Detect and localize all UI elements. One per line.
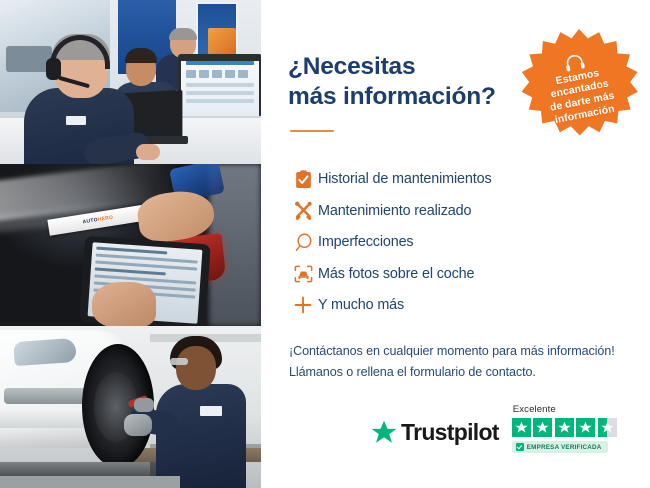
feature-label: Mantenimiento realizado: [318, 203, 471, 219]
trustpilot-rating: Excelente: [512, 404, 617, 453]
trustpilot-logo-text: Trustpilot: [401, 419, 499, 446]
trustpilot-star-icon: [371, 420, 397, 445]
promo-badge-content: Estamos encantados de darte más informac…: [510, 16, 648, 154]
clipboard-check-icon: [288, 170, 318, 189]
feature-label: Historial de mantenimientos: [318, 171, 492, 187]
trustpilot-widget[interactable]: Trustpilot Excelente: [371, 404, 617, 453]
feature-label: Imperfecciones: [318, 234, 413, 250]
verified-company-label: EMPRESA VERIFICADA: [527, 444, 602, 451]
trustpilot-star-half: [598, 418, 617, 437]
feature-item-more-photos: Más fotos sobre el coche: [288, 258, 624, 290]
photo-mechanic-wheel: [0, 326, 261, 488]
photo-column: AUTOHERO: [0, 0, 261, 488]
plus-icon: [288, 296, 318, 314]
photo-mechanic-badge: [200, 406, 222, 416]
trustpilot-star-filled: [576, 418, 595, 437]
photo-monitor: [178, 54, 261, 116]
contact-copy: ¡Contáctanos en cualquier momento para m…: [289, 341, 624, 383]
photo-mechanic-body: [156, 384, 246, 488]
feature-label: Más fotos sobre el coche: [318, 266, 474, 282]
feature-label: Y mucho más: [318, 297, 404, 313]
magnifier-icon: [288, 233, 318, 252]
photo-monitor-row: [186, 61, 254, 65]
promo-card: AUTOHERO: [0, 0, 650, 488]
photo-person-front-badge: [66, 116, 86, 125]
verified-check-icon: [516, 443, 524, 451]
photo-mechanic-glove: [124, 414, 152, 436]
title-underline: [290, 130, 334, 133]
photo-car-headlight: [13, 338, 77, 366]
feature-list: Historial de mantenimientos Mantenimient…: [288, 163, 624, 321]
photo-monitor-row: [186, 83, 254, 87]
trustpilot-stars: [512, 418, 617, 437]
promo-badge-text: Estamos encantados de darte más informac…: [529, 63, 633, 131]
page-title-line-1: ¿Necesitas: [288, 52, 523, 82]
page-title-line-2: más información?: [288, 82, 523, 112]
trustpilot-star-filled: [533, 418, 552, 437]
photo-mechanic-glasses: [170, 358, 188, 365]
feature-item-and-more: Y mucho más: [288, 289, 624, 321]
photo-monitor-screen: [181, 61, 259, 117]
photo-monitor-thumbs: [186, 70, 254, 78]
photo-lift-base: [0, 476, 180, 488]
contact-copy-line-1: ¡Contáctanos en cualquier momento para m…: [289, 341, 624, 362]
feature-item-maintenance-history: Historial de mantenimientos: [288, 163, 624, 195]
trustpilot-logo[interactable]: Trustpilot: [371, 419, 499, 453]
ruler-brand-auto: AUTO: [82, 217, 98, 225]
photo-call-center: [0, 0, 261, 164]
contact-copy-line-2: Llámanos o rellena el formulario de cont…: [289, 362, 624, 383]
trustpilot-star-filled: [555, 418, 574, 437]
feature-item-imperfections: Imperfecciones: [288, 226, 624, 258]
photo-person-front: [24, 38, 134, 164]
photo-lift-arm: [0, 462, 150, 476]
photo-person-front-hand: [136, 144, 160, 160]
car-scan-icon: [288, 265, 318, 283]
page-title: ¿Necesitas más información?: [288, 52, 523, 113]
photo-mechanic-glove-upper: [134, 398, 154, 412]
tools-cross-icon: [288, 201, 318, 220]
feature-item-maintenance-done: Mantenimiento realizado: [288, 195, 624, 227]
ruler-brand-hero: HERO: [97, 215, 113, 223]
photo-poster-secondary: [208, 28, 236, 56]
trustpilot-star-filled: [512, 418, 531, 437]
photo-monitor-row: [186, 91, 254, 95]
photo-hand-lower: [92, 282, 156, 326]
photo-monitor-row: [186, 99, 254, 103]
verified-company-badge: EMPRESA VERIFICADA: [512, 441, 608, 453]
photo-person-back-hair: [169, 28, 197, 40]
content-panel: ¿Necesitas más información? Estamos enca…: [261, 0, 650, 488]
photo-car-grille: [4, 388, 88, 404]
trustpilot-rating-label: Excelente: [513, 404, 556, 415]
photo-inspection: AUTOHERO: [0, 164, 261, 326]
promo-badge: Estamos encantados de darte más informac…: [520, 26, 638, 144]
photo-mechanic-head: [176, 346, 216, 390]
